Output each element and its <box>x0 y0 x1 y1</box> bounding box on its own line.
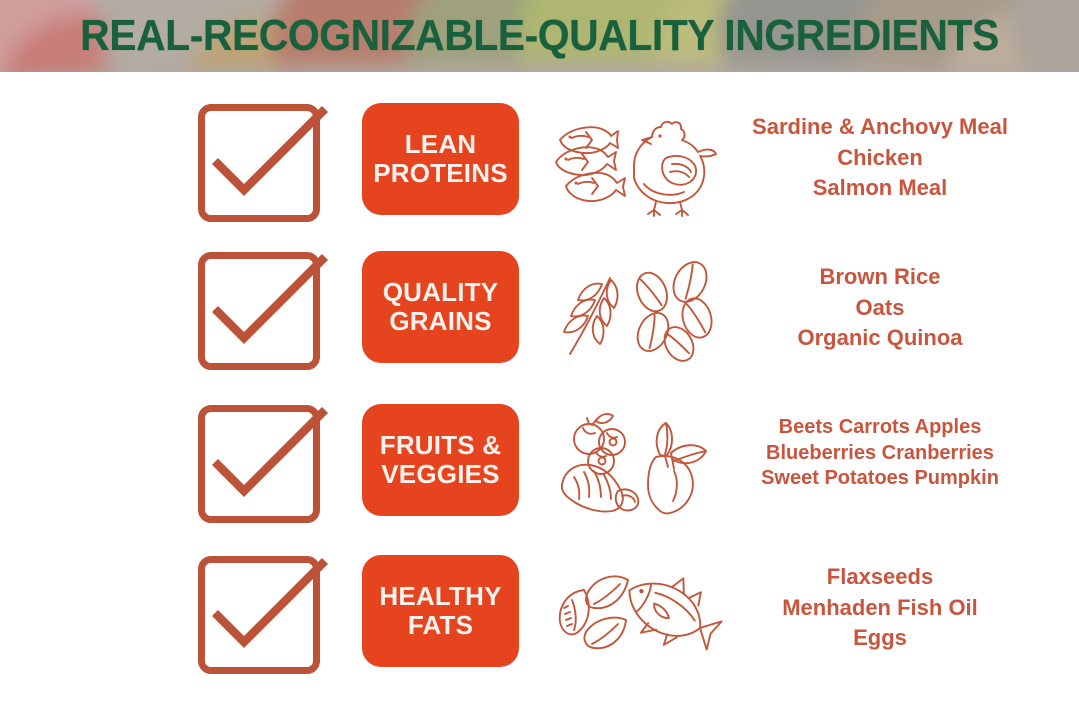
ingredient-item: Sardine & Anchovy Meal <box>700 112 1060 143</box>
seeds-and-fish-icon <box>552 560 718 664</box>
ingredients-infographic: REAL-RECOGNIZABLE-QUALITY INGREDIENTS LE… <box>0 0 1079 682</box>
badge-line-1: FRUITS & <box>380 431 501 460</box>
badge-line-2: GRAINS <box>389 307 491 336</box>
ingredient-item: Oats <box>700 293 1060 324</box>
badge-line-1: LEAN <box>405 130 477 159</box>
badge-healthy-fats[interactable]: HEALTHY FATS <box>362 555 519 667</box>
ingredient-item: Sweet Potatoes Pumpkin <box>694 466 1066 492</box>
checkbox-lean-proteins[interactable] <box>198 104 320 222</box>
fish-and-chicken-icon <box>548 106 720 212</box>
checkbox-healthy-fats[interactable] <box>198 556 320 674</box>
ingredient-list-quality-grains: Brown Rice Oats Organic Quinoa <box>700 262 1060 354</box>
checkbox-quality-grains[interactable] <box>198 252 320 370</box>
wheat-and-grains-icon <box>556 256 716 358</box>
badge-line-1: HEALTHY <box>379 582 501 611</box>
badge-fruits-veggies[interactable]: FRUITS & VEGGIES <box>362 404 519 516</box>
berries-sweet-potato-beet-icon <box>556 409 714 517</box>
ingredient-row: FRUITS & VEGGIES <box>0 403 1079 555</box>
ingredient-list-lean-proteins: Sardine & Anchovy Meal Chicken Salmon Me… <box>700 112 1060 204</box>
badge-line-1: QUALITY <box>383 278 499 307</box>
ingredient-item: Flaxseeds <box>700 562 1060 593</box>
ingredient-item: Salmon Meal <box>700 173 1060 204</box>
ingredient-row: LEAN PROTEINS <box>0 102 1079 254</box>
badge-line-2: VEGGIES <box>381 460 499 489</box>
badge-line-2: PROTEINS <box>373 159 508 188</box>
ingredient-list-fruits-veggies: Beets Carrots Apples Blueberries Cranber… <box>694 415 1066 492</box>
badge-quality-grains[interactable]: QUALITY GRAINS <box>362 251 519 363</box>
ingredient-item: Menhaden Fish Oil <box>700 593 1060 624</box>
ingredient-item: Beets Carrots Apples <box>694 415 1066 441</box>
ingredient-item: Chicken <box>700 143 1060 174</box>
ingredient-list-healthy-fats: Flaxseeds Menhaden Fish Oil Eggs <box>700 562 1060 654</box>
checkbox-fruits-veggies[interactable] <box>198 405 320 523</box>
header-divider <box>0 72 1079 90</box>
page-title: REAL-RECOGNIZABLE-QUALITY INGREDIENTS <box>38 0 1041 72</box>
ingredient-item: Organic Quinoa <box>700 323 1060 354</box>
badge-line-2: FATS <box>408 611 473 640</box>
header-banner: REAL-RECOGNIZABLE-QUALITY INGREDIENTS <box>0 0 1079 72</box>
ingredient-item: Eggs <box>700 623 1060 654</box>
ingredient-row: HEALTHY FATS <box>0 554 1079 706</box>
badge-lean-proteins[interactable]: LEAN PROTEINS <box>362 103 519 215</box>
ingredient-item: Blueberries Cranberries <box>694 441 1066 467</box>
ingredient-row: QUALITY GRAINS <box>0 250 1079 402</box>
ingredient-item: Brown Rice <box>700 262 1060 293</box>
